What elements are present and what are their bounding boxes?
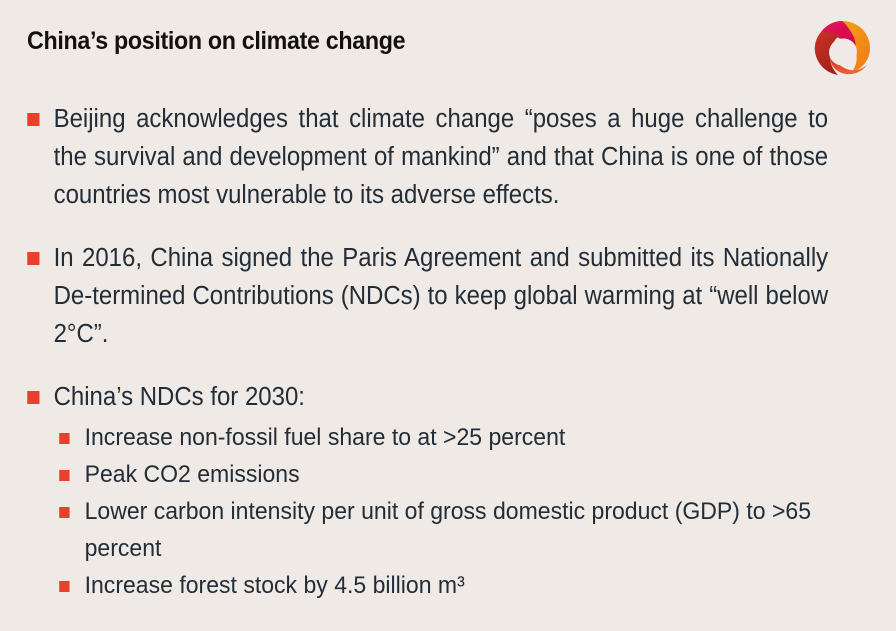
sub-bullet-marker-icon <box>59 581 69 592</box>
bullet-marker-icon <box>27 391 39 404</box>
sub-bullet-text: Peak CO2 emissions <box>85 461 300 488</box>
sub-bullet-text: Increase non-fossil fuel share to at >25… <box>85 424 566 451</box>
bullet-item: Beijing acknowledges that climate change… <box>0 100 851 214</box>
slide-body: Beijing acknowledges that climate change… <box>0 100 896 604</box>
bullet-item: In 2016, China signed the Paris Agreemen… <box>0 239 851 353</box>
bullet-text: In 2016, China signed the Paris Agreemen… <box>54 244 829 348</box>
sub-bullet-text: Lower carbon intensity per unit of gross… <box>85 498 811 562</box>
sub-bullet-item: Increase forest stock by 4.5 billion m³ <box>0 567 851 604</box>
page-title: China’s position on climate change <box>27 27 405 56</box>
sub-bullet-marker-icon <box>59 433 69 444</box>
slide: China’s position on climate change <box>0 0 896 631</box>
bullet-block-3: China’s NDCs for 2030: Increase non-foss… <box>0 378 896 604</box>
bullet-block-1: Beijing acknowledges that climate change… <box>0 100 896 214</box>
bullet-marker-icon <box>27 252 39 265</box>
sub-bullet-item: Peak CO2 emissions <box>0 456 851 493</box>
organization-logo <box>812 18 874 78</box>
bullet-block-2: In 2016, China signed the Paris Agreemen… <box>0 239 896 353</box>
sub-bullet-text: Increase forest stock by 4.5 billion m³ <box>85 572 465 599</box>
sub-bullet-item: Lower carbon intensity per unit of gross… <box>0 493 851 567</box>
twisted-ring-icon <box>812 18 874 78</box>
sub-bullet-item: Increase non-fossil fuel share to at >25… <box>0 419 851 456</box>
bullet-item: China’s NDCs for 2030: <box>0 378 851 416</box>
slide-header: China’s position on climate change <box>0 0 896 92</box>
sub-bullet-list: Increase non-fossil fuel share to at >25… <box>0 419 896 604</box>
bullet-text: China’s NDCs for 2030: <box>54 383 305 411</box>
sub-bullet-marker-icon <box>59 470 69 481</box>
bullet-marker-icon <box>27 113 39 126</box>
sub-bullet-marker-icon <box>59 507 69 518</box>
bullet-text: Beijing acknowledges that climate change… <box>54 105 829 209</box>
